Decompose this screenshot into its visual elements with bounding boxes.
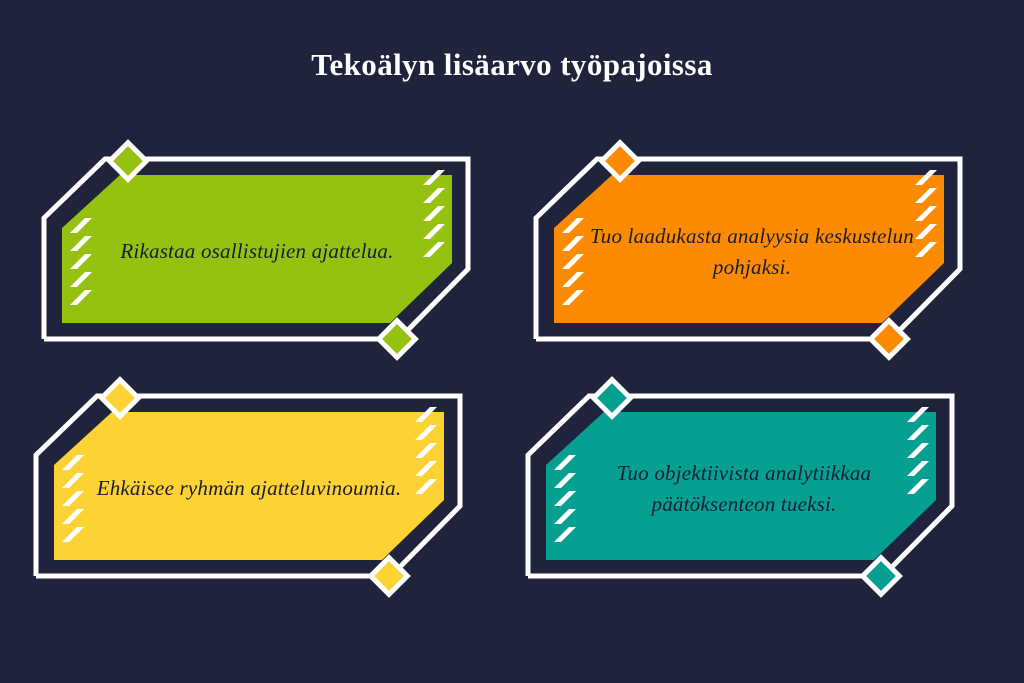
card-diamond-top-left-teal — [594, 380, 631, 417]
card-diamond-top-left-green — [110, 143, 147, 180]
info-card-orange: Tuo laadukasta analyysia keskustelun poh… — [528, 157, 968, 352]
card-diamond-top-left-orange — [602, 143, 639, 180]
card-shape-yellow — [28, 394, 468, 589]
card-body-green — [62, 175, 452, 323]
infographic-poster: Tekoälyn lisäarvo työpajoissa Rik — [0, 0, 1024, 683]
card-shape-teal — [520, 394, 960, 589]
card-body-orange — [554, 175, 944, 323]
page-title: Tekoälyn lisäarvo työpajoissa — [0, 46, 1024, 83]
card-body-yellow — [54, 412, 444, 560]
card-diamond-top-left-yellow — [102, 380, 139, 417]
info-card-yellow: Ehkäisee ryhmän ajatteluvinoumia. — [28, 394, 468, 589]
info-card-teal: Tuo objektiivista analytiikkaa päätöksen… — [520, 394, 960, 589]
card-shape-green — [36, 157, 476, 352]
card-shape-orange — [528, 157, 968, 352]
info-card-green: Rikastaa osallistujien ajattelua. — [36, 157, 476, 352]
card-body-teal — [546, 412, 936, 560]
